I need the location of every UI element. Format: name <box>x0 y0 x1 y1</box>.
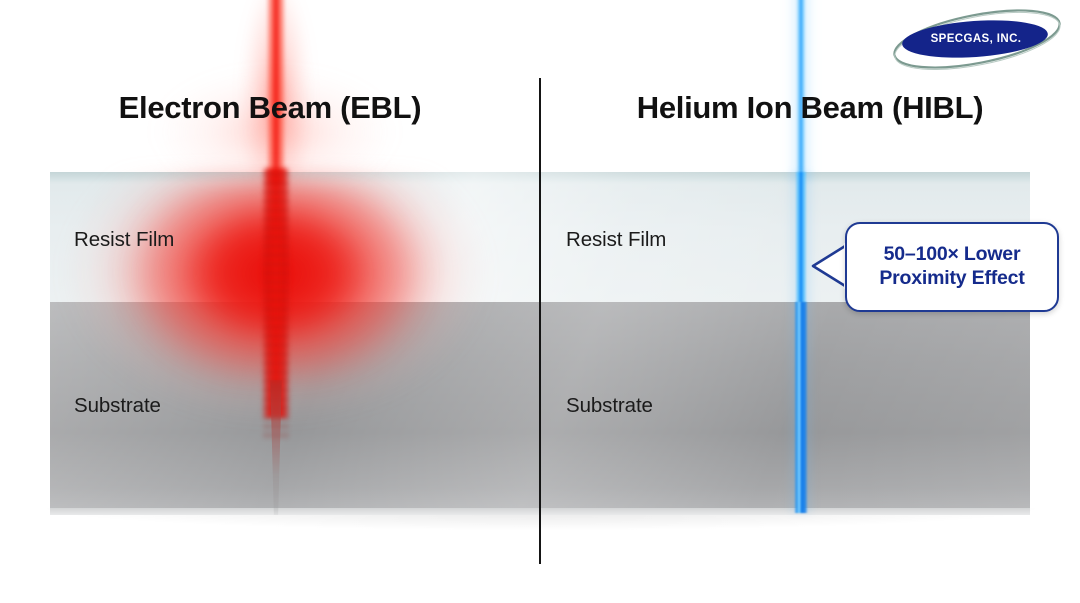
title-helium-ion-beam: Helium Ion Beam (HIBL) <box>540 90 1080 126</box>
proximity-effect-callout: 50–100× Lower Proximity Effect <box>845 222 1059 312</box>
label-resist-film-left: Resist Film <box>74 228 174 252</box>
panel-divider <box>539 78 541 564</box>
logo-mark-icon <box>886 8 1068 70</box>
label-substrate-left: Substrate <box>74 394 161 418</box>
helium-beam-incident-ray <box>796 0 806 176</box>
diagram-canvas: Resist Film Substrate Resist Film Substr… <box>0 0 1080 603</box>
label-substrate-right: Substrate <box>566 394 653 418</box>
specgas-logo: SPECGAS, INC. <box>886 8 1068 70</box>
callout-line-1: 50–100× Lower <box>884 243 1021 265</box>
callout-line-2: Proximity Effect <box>879 267 1024 289</box>
callout-text: 50–100× Lower Proximity Effect <box>879 243 1024 291</box>
label-resist-film-right: Resist Film <box>566 228 666 252</box>
title-electron-beam: Electron Beam (EBL) <box>0 90 540 126</box>
